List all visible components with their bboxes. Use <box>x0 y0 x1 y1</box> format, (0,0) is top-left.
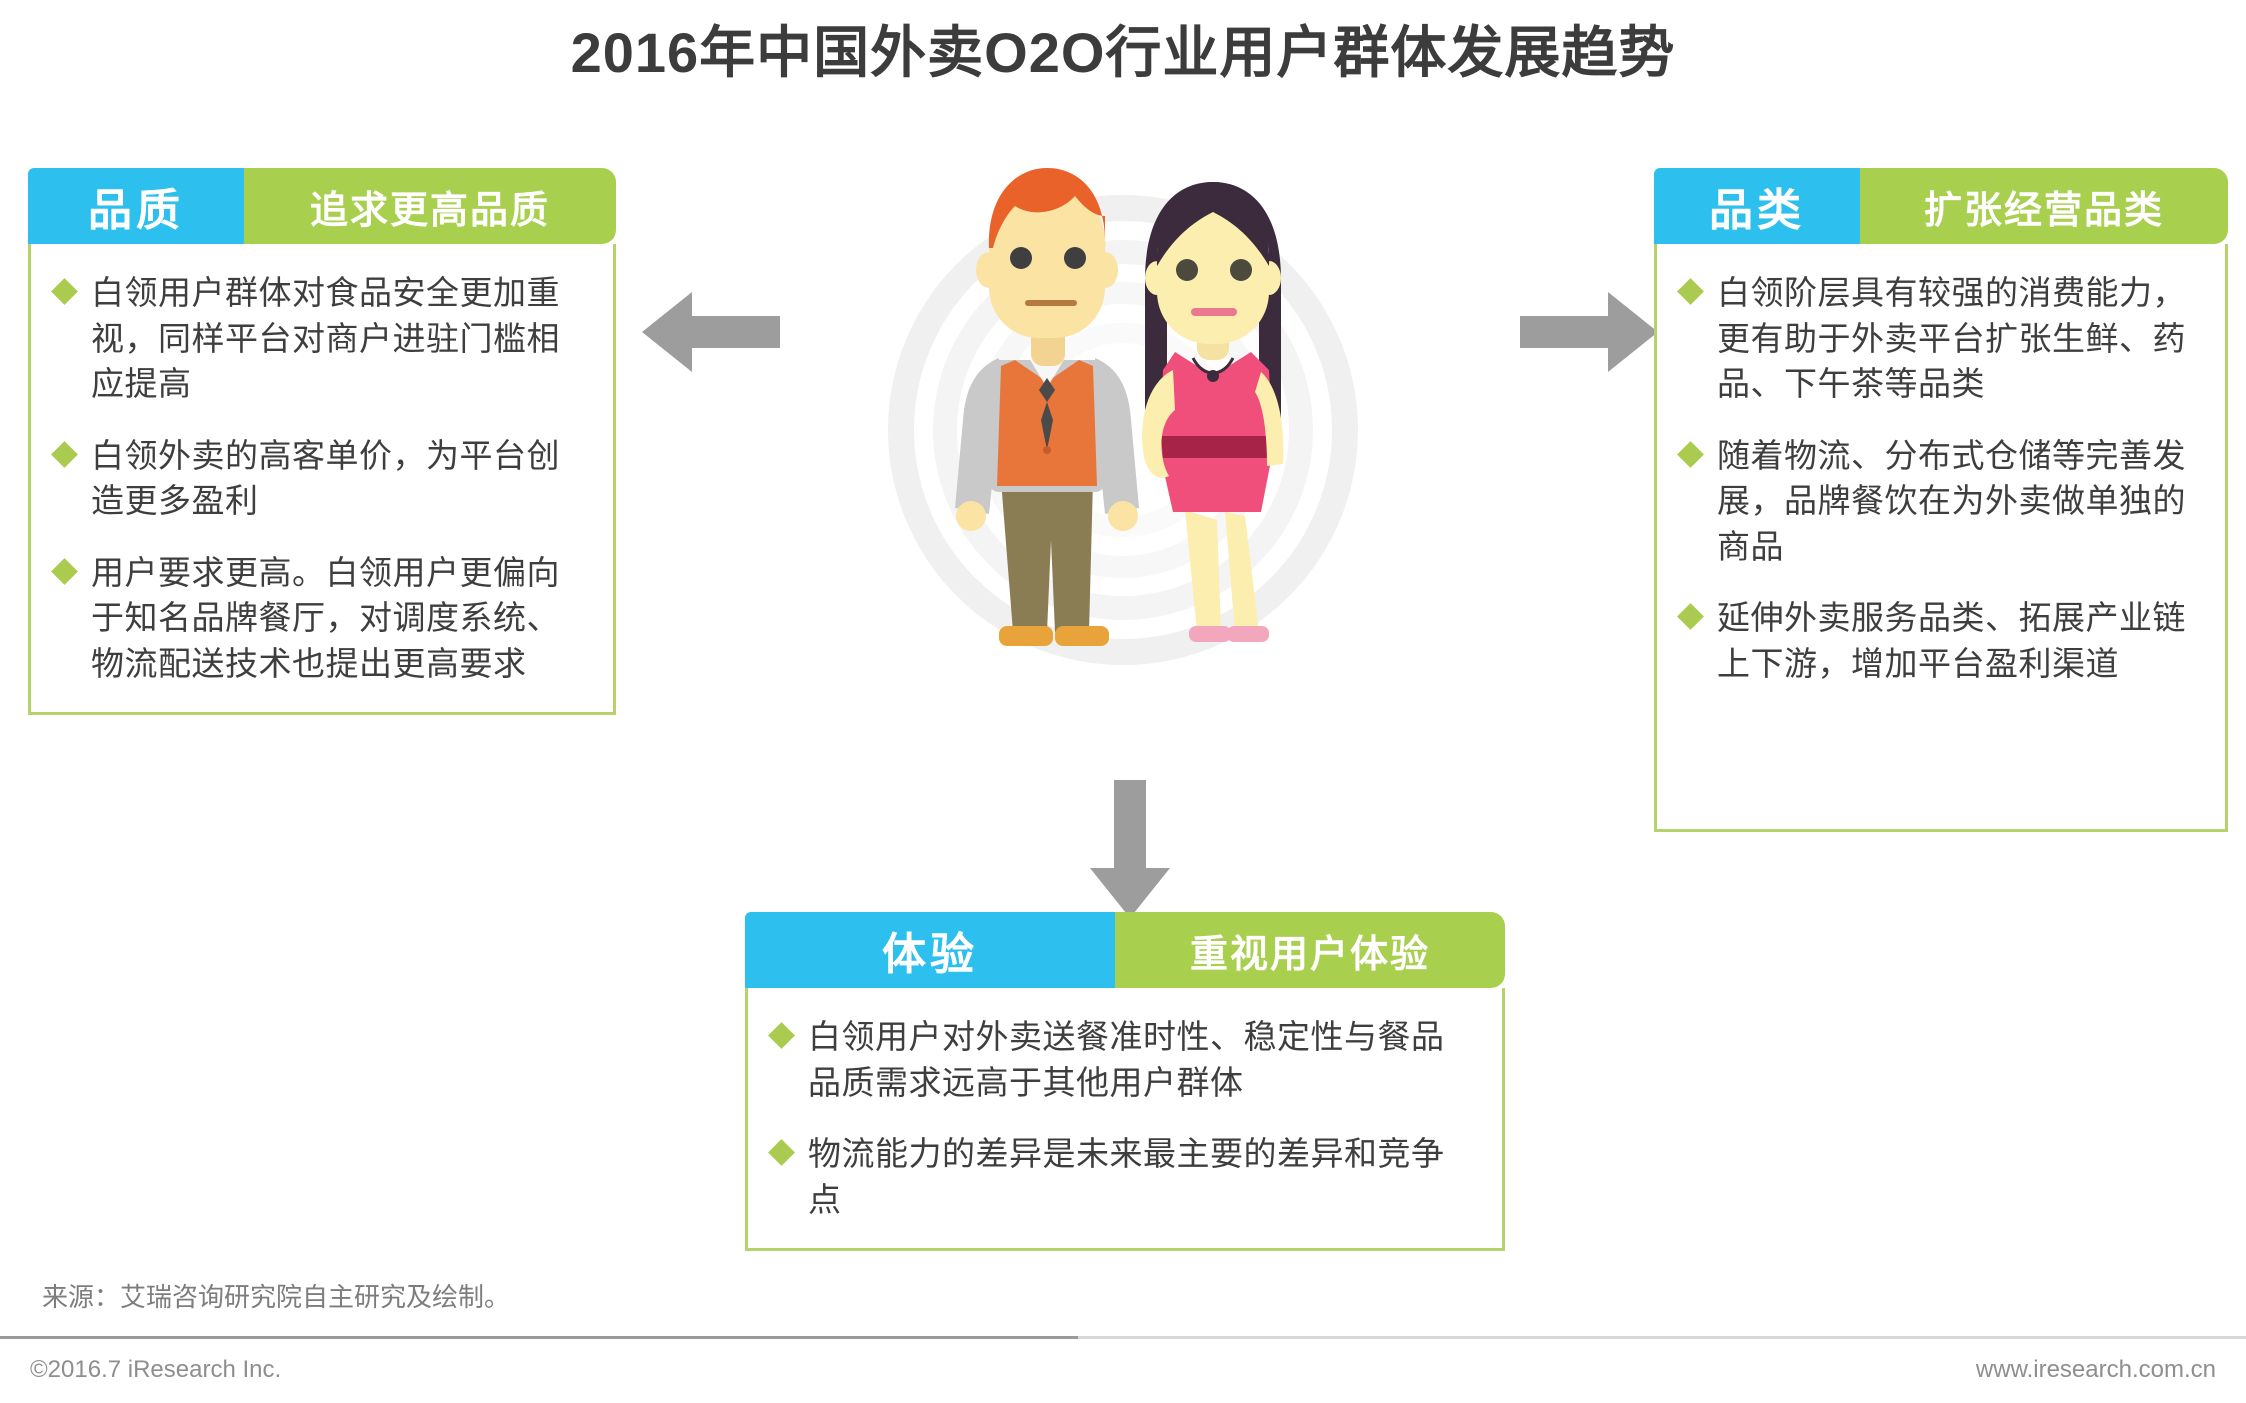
list-item: 物流能力的差异是未来最主要的差异和竞争点 <box>768 1131 1476 1222</box>
arrow-right-icon <box>1520 290 1660 374</box>
bullet-text: 用户要求更高。白领用户更偏向于知名品牌餐厅，对调度系统、物流配送技术也提出更高要… <box>91 550 587 687</box>
people-illustration <box>793 120 1453 740</box>
bullet-text: 白领外卖的高客单价，为平台创造更多盈利 <box>91 433 587 524</box>
source-note: 来源：艾瑞咨询研究院自主研究及绘制。 <box>42 1277 510 1314</box>
panel-quality: 品质 追求更高品质 白领用户群体对食品安全更加重视，同样平台对商户进驻门槛相应提… <box>28 168 616 715</box>
bullet-text: 物流能力的差异是未来最主要的差异和竞争点 <box>808 1131 1476 1222</box>
bullet-text: 白领用户群体对食品安全更加重视，同样平台对商户进驻门槛相应提高 <box>91 270 587 407</box>
female-figure <box>1142 182 1283 642</box>
infographic-page: 2016年中国外卖O2O行业用户群体发展趋势 <box>0 0 2246 1403</box>
panel-experience: 体验 重视用户体验 白领用户对外卖送餐准时性、稳定性与餐品品质需求远高于其他用户… <box>745 912 1505 1251</box>
panel-experience-key: 体验 <box>745 912 1115 988</box>
panel-category-body: 白领阶层具有较强的消费能力，更有助于外卖平台扩张生鲜、药品、下午茶等品类 随着物… <box>1654 244 2228 832</box>
page-title: 2016年中国外卖O2O行业用户群体发展趋势 <box>0 8 2246 89</box>
arrow-down-icon <box>1088 780 1172 920</box>
list-item: 用户要求更高。白领用户更偏向于知名品牌餐厅，对调度系统、物流配送技术也提出更高要… <box>51 550 587 687</box>
panel-quality-value: 追求更高品质 <box>244 168 616 244</box>
panel-quality-body: 白领用户群体对食品安全更加重视，同样平台对商户进驻门槛相应提高 白领外卖的高客单… <box>28 244 616 715</box>
list-item: 白领阶层具有较强的消费能力，更有助于外卖平台扩张生鲜、药品、下午茶等品类 <box>1677 270 2199 407</box>
list-item: 白领用户群体对食品安全更加重视，同样平台对商户进驻门槛相应提高 <box>51 270 587 407</box>
bullet-text: 随着物流、分布式仓储等完善发展，品牌餐饮在为外卖做单独的商品 <box>1717 433 2199 570</box>
diamond-bullet-icon <box>51 558 78 585</box>
bullet-text: 白领阶层具有较强的消费能力，更有助于外卖平台扩张生鲜、药品、下午茶等品类 <box>1717 270 2199 407</box>
panel-category-value: 扩张经营品类 <box>1860 168 2228 244</box>
panel-experience-header: 体验 重视用户体验 <box>745 912 1505 988</box>
male-figure <box>955 168 1139 646</box>
diamond-bullet-icon <box>1677 278 1704 305</box>
panel-category-key: 品类 <box>1654 168 1860 244</box>
arrow-left-icon <box>640 290 780 374</box>
list-item: 延伸外卖服务品类、拓展产业链上下游，增加平台盈利渠道 <box>1677 595 2199 686</box>
panel-quality-header: 品质 追求更高品质 <box>28 168 616 244</box>
center-illustration <box>793 120 1453 740</box>
website-link[interactable]: www.iresearch.com.cn <box>1976 1356 2216 1384</box>
panel-quality-key: 品质 <box>28 168 244 244</box>
panel-experience-body: 白领用户对外卖送餐准时性、稳定性与餐品品质需求远高于其他用户群体 物流能力的差异… <box>745 988 1505 1251</box>
bullet-text: 延伸外卖服务品类、拓展产业链上下游，增加平台盈利渠道 <box>1717 595 2199 686</box>
panel-category: 品类 扩张经营品类 白领阶层具有较强的消费能力，更有助于外卖平台扩张生鲜、药品、… <box>1654 168 2228 832</box>
diamond-bullet-icon <box>51 278 78 305</box>
footer-divider <box>0 1336 2246 1339</box>
list-item: 白领外卖的高客单价，为平台创造更多盈利 <box>51 433 587 524</box>
diamond-bullet-icon <box>768 1139 795 1166</box>
diamond-bullet-icon <box>768 1022 795 1049</box>
diamond-bullet-icon <box>1677 603 1704 630</box>
copyright-text: ©2016.7 iResearch Inc. <box>30 1356 281 1384</box>
panel-experience-value: 重视用户体验 <box>1115 912 1505 988</box>
panel-category-header: 品类 扩张经营品类 <box>1654 168 2228 244</box>
bullet-text: 白领用户对外卖送餐准时性、稳定性与餐品品质需求远高于其他用户群体 <box>808 1014 1476 1105</box>
diamond-bullet-icon <box>51 441 78 468</box>
diamond-bullet-icon <box>1677 441 1704 468</box>
list-item: 随着物流、分布式仓储等完善发展，品牌餐饮在为外卖做单独的商品 <box>1677 433 2199 570</box>
list-item: 白领用户对外卖送餐准时性、稳定性与餐品品质需求远高于其他用户群体 <box>768 1014 1476 1105</box>
